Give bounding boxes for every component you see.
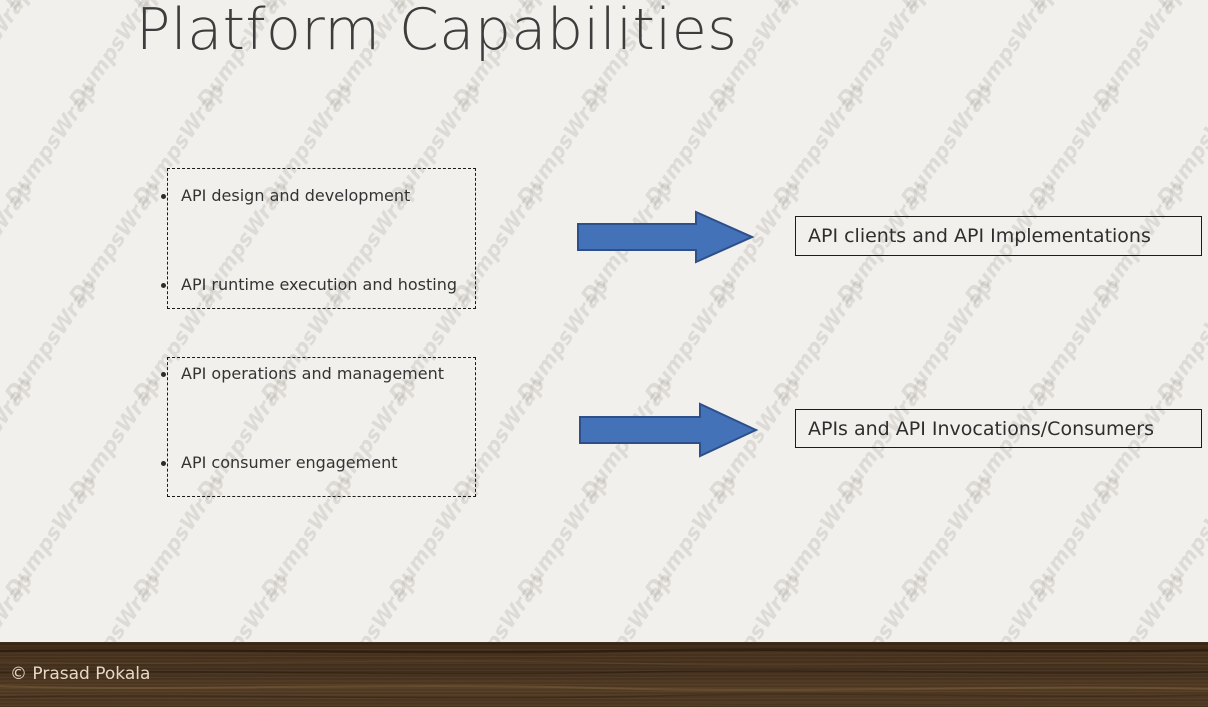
arrow-right-icon: [578, 400, 758, 460]
watermark-text: DumpsWrap: [0, 471, 102, 602]
watermark-text: DumpsWrap: [0, 0, 38, 112]
watermark-text: DumpsWrap: [640, 79, 742, 210]
watermark-text: DumpsWrap: [1024, 0, 1126, 14]
capability-item-label: API operations and management: [181, 364, 444, 384]
capability-item-api-operations: API operations and management: [181, 364, 444, 384]
bullet-icon: [161, 372, 166, 377]
capability-item-label: API design and development: [181, 186, 410, 206]
outcome-box-api-clients: API clients and API Implementations: [795, 216, 1202, 256]
bullet-icon: [161, 461, 166, 466]
watermark-text: DumpsWrap: [0, 275, 102, 406]
watermark-text: DumpsWrap: [640, 275, 742, 406]
watermark-text: DumpsWrap: [640, 471, 742, 602]
capability-item-api-runtime: API runtime execution and hosting: [181, 275, 457, 295]
watermark-text: DumpsWrap: [512, 79, 614, 210]
watermark-text: DumpsWrap: [960, 0, 1062, 112]
watermark-text: DumpsWrap: [0, 373, 38, 504]
watermark-text: DumpsWrap: [1152, 275, 1208, 406]
watermark-text: DumpsWrap: [0, 79, 102, 210]
capability-item-api-consumer: API consumer engagement: [181, 453, 397, 473]
watermark-text: DumpsWrap: [1152, 0, 1208, 14]
watermark-text: DumpsWrap: [768, 0, 870, 14]
watermark-text: DumpsWrap: [896, 471, 998, 602]
watermark-text: DumpsWrap: [896, 0, 998, 14]
watermark-text: DumpsWrap: [1152, 79, 1208, 210]
watermark-text: DumpsWrap: [896, 275, 998, 406]
watermark-layer: DumpsWrapDumpsWrapDumpsWrapDumpsWrapDump…: [0, 0, 1208, 707]
bullet-icon: [161, 283, 166, 288]
watermark-text: DumpsWrap: [1088, 0, 1190, 112]
footer-bar: [0, 642, 1208, 707]
capability-item-api-design: API design and development: [181, 186, 410, 206]
bullet-icon: [161, 194, 166, 199]
watermark-text: DumpsWrap: [512, 275, 614, 406]
watermark-text: DumpsWrap: [1024, 79, 1126, 210]
capability-item-label: API runtime execution and hosting: [181, 275, 457, 295]
outcome-label: APIs and API Invocations/Consumers: [796, 418, 1154, 440]
watermark-text: DumpsWrap: [1024, 275, 1126, 406]
watermark-text: DumpsWrap: [512, 471, 614, 602]
outcome-label: API clients and API Implementations: [796, 225, 1151, 247]
copyright-label: © Prasad Pokala: [10, 664, 150, 684]
watermark-text: DumpsWrap: [1152, 471, 1208, 602]
watermark-text: DumpsWrap: [768, 275, 870, 406]
watermark-text: DumpsWrap: [896, 79, 998, 210]
watermark-text: DumpsWrap: [768, 79, 870, 210]
capability-item-label: API consumer engagement: [181, 453, 397, 473]
arrow-right-icon: [576, 208, 754, 266]
watermark-text: DumpsWrap: [0, 0, 102, 14]
watermark-text: DumpsWrap: [768, 471, 870, 602]
watermark-text: DumpsWrap: [0, 177, 38, 308]
watermark-text: DumpsWrap: [832, 0, 934, 112]
watermark-text: DumpsWrap: [1024, 471, 1126, 602]
outcome-box-api-invocations: APIs and API Invocations/Consumers: [795, 409, 1202, 448]
watermark-text: DumpsWrap: [64, 177, 166, 308]
watermark-text: DumpsWrap: [64, 373, 166, 504]
page-title: Platform Capabilities: [136, 0, 738, 64]
wood-grain-texture: [0, 642, 1208, 707]
slide-canvas: DumpsWrapDumpsWrapDumpsWrapDumpsWrapDump…: [0, 0, 1208, 707]
